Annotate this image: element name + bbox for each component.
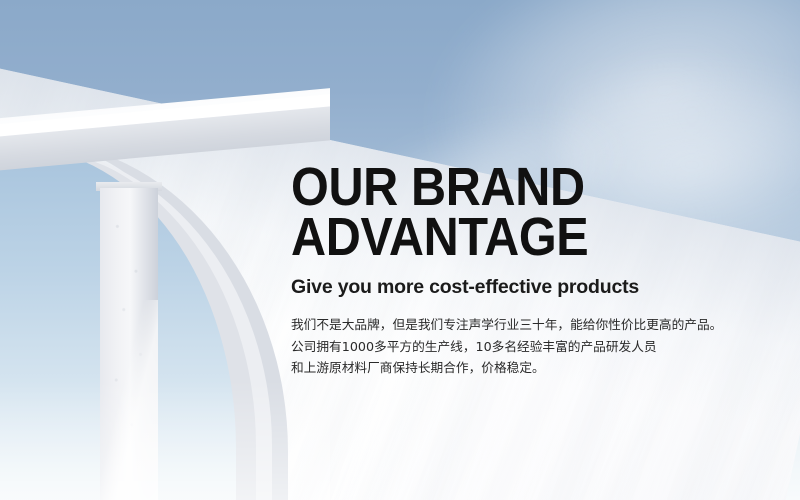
brand-advantage-banner: OUR BRAND ADVANTAGE Give you more cost-e… (0, 0, 800, 500)
concrete-structure (0, 0, 330, 500)
bottom-haze (0, 380, 330, 500)
page-title: OUR BRAND ADVANTAGE (291, 162, 714, 262)
body-line-3: 和上游原材料厂商保持长期合作，价格稳定。 (291, 357, 761, 379)
subheadline: Give you more cost-effective products (291, 276, 761, 299)
body-line-2: 公司拥有1000多平方的生产线，10多名经验丰富的产品研发人员 (291, 336, 761, 358)
copy-block: OUR BRAND ADVANTAGE Give you more cost-e… (291, 162, 761, 379)
body-copy: 我们不是大品牌，但是我们专注声学行业三十年，能给你性价比更高的产品。 公司拥有1… (291, 314, 761, 379)
headline-line-2: ADVANTAGE (291, 212, 714, 262)
body-line-1: 我们不是大品牌，但是我们专注声学行业三十年，能给你性价比更高的产品。 (291, 314, 761, 336)
